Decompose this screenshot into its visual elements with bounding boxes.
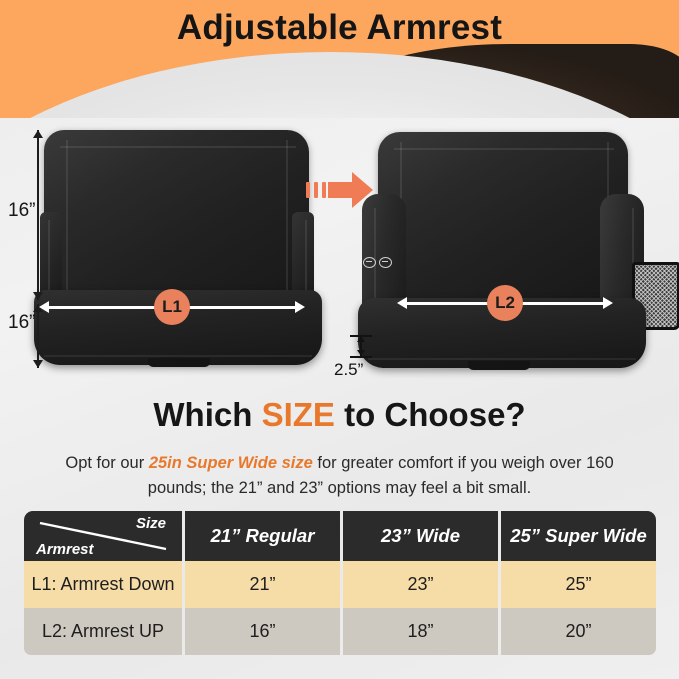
left-armrest-seam-l [48,220,50,290]
left-chair-seam-a [66,140,68,310]
right-chair-seam-top [394,148,614,150]
table-header-row: Size Armrest 21” Regular 23” Wide 25” Su… [24,511,656,561]
clearance-dim-line [360,336,362,356]
size-comparison-table: Size Armrest 21” Regular 23” Wide 25” Su… [21,511,659,655]
row-label-l1: L1: Armrest Down [24,561,182,608]
table-body: L1: Armrest Down 21” 23” 25” L2: Armrest… [24,561,656,655]
left-chair-seam-top [60,146,296,148]
transition-arrow [306,170,370,210]
page-title: Adjustable Armrest [0,8,679,48]
cell-l2-21: 16” [185,608,340,655]
left-armrest-down-right [292,212,314,300]
heading-post: to Choose? [335,396,526,433]
cell-l1-21: 21” [185,561,340,608]
right-seat-seam [368,358,636,360]
cell-l1-23: 23” [343,561,498,608]
table-corner-cell: Size Armrest [24,511,182,561]
left-chair-seam-b [286,140,288,308]
left-depth-dim-line [37,304,39,368]
control-button-right-icon[interactable] [379,257,392,268]
left-armrest-seam-r [305,220,307,290]
motion-line-1 [306,182,310,198]
l1-badge: L1 [154,289,190,325]
left-depth-label: 16” [8,312,35,334]
table-col-25: 25” Super Wide [501,511,656,561]
section-subcopy: Opt for our 25in Super Wide size for gre… [44,451,635,501]
control-button-left-icon[interactable] [363,257,376,268]
cell-l1-25: 25” [501,561,656,608]
infographic-page: Adjustable Armrest 16” 16” [0,0,679,679]
left-armrest-down-left [40,212,62,300]
left-seat-seam [44,355,312,357]
table-header: Size Armrest 21” Regular 23” Wide 25” Su… [24,511,656,561]
motion-line-3 [322,182,326,198]
right-seat-handle [468,361,530,370]
section-heading: Which SIZE to Choose? [0,396,679,434]
heading-pre: Which [153,396,261,433]
motion-line-2 [314,182,318,198]
table-row: L1: Armrest Down 21” 23” 25” [24,561,656,608]
cell-l2-23: 18” [343,608,498,655]
left-height-dim-line [37,130,39,300]
table-col-23: 23” Wide [343,511,498,561]
clearance-label: 2.5” [334,360,363,380]
row-label-l2: L2: Armrest UP [24,608,182,655]
subcopy-part1: Opt for our [65,454,148,472]
heading-accent: SIZE [262,396,335,433]
product-diagram: 16” 16” L1 [0,112,679,390]
table-row: L2: Armrest UP 16” 18” 20” [24,608,656,655]
cell-l2-25: 20” [501,608,656,655]
clearance-tick-top [350,335,372,337]
table-col-21: 21” Regular [185,511,340,561]
corner-label-armrest: Armrest [36,541,94,558]
left-height-label: 16” [8,200,35,222]
clearance-tick-bottom [350,356,372,358]
armrest-control-pad[interactable] [363,257,392,268]
l2-badge: L2 [487,285,523,321]
corner-label-size: Size [136,515,166,532]
subcopy-highlight: 25in Super Wide size [149,454,313,472]
left-seat-handle [148,358,210,367]
